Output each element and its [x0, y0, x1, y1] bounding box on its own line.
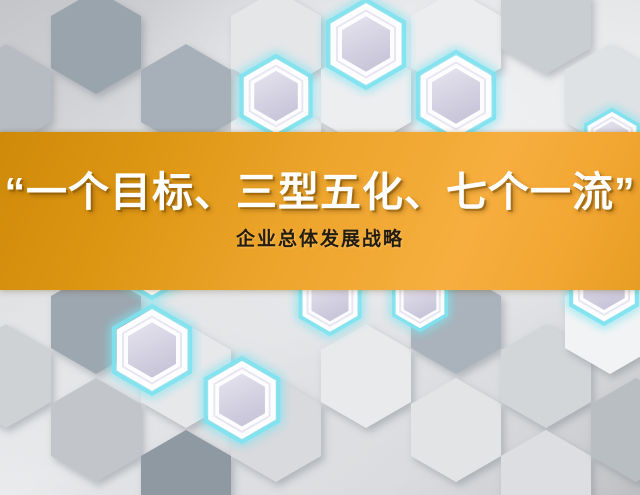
background-hexagon	[501, 430, 591, 495]
title-banner: “一个目标、三型五化、七个一流” 企业总体发展战略	[0, 132, 640, 290]
background-hexagon	[51, 0, 141, 94]
glowing-hexagon	[114, 306, 190, 394]
background-hexagon	[591, 378, 640, 482]
background-hexagon	[0, 324, 51, 428]
presentation-slide: “一个目标、三型五化、七个一流” 企业总体发展战略	[0, 0, 640, 495]
background-hexagon	[321, 324, 411, 428]
background-hexagon	[51, 378, 141, 482]
glowing-hexagon	[241, 56, 310, 136]
glowing-hexagon	[206, 358, 279, 442]
background-hexagon	[411, 378, 501, 482]
background-hexagon	[141, 430, 231, 495]
slide-subtitle: 企业总体发展战略	[236, 229, 404, 252]
glowing-hexagon	[418, 52, 494, 140]
glowing-hexagon	[328, 0, 404, 88]
slide-title: “一个目标、三型五化、七个一流”	[5, 170, 636, 214]
